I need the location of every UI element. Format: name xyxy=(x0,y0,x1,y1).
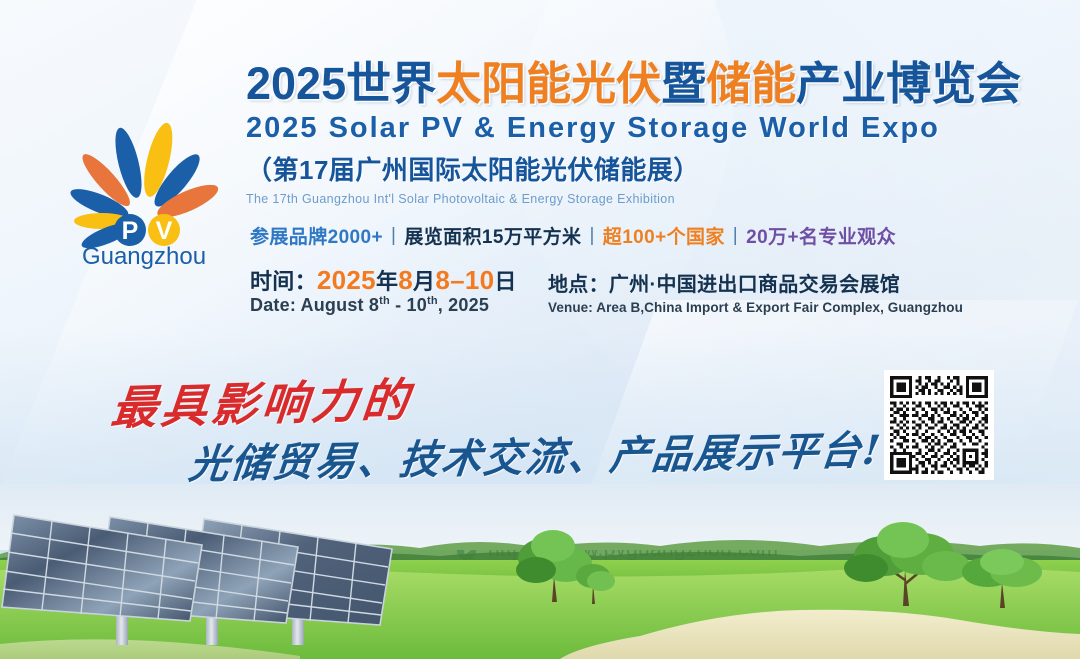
title-chinese-segment-3: 储能 xyxy=(706,58,796,109)
stat-separator-1: | xyxy=(383,225,404,246)
website-text[interactable]: https://www.pvguangzhou.com xyxy=(488,538,778,562)
solar-panel-array xyxy=(0,491,462,651)
date-day-unit: 日 xyxy=(494,269,516,294)
date-year: 2025 xyxy=(317,265,376,295)
date-chinese: 时间：2025年8月8–10日 xyxy=(250,264,517,296)
stat-separator-3: | xyxy=(725,225,746,246)
date-label-cn: 时间： xyxy=(250,269,317,294)
contact-block: https://www.pvguangzhou.com 4006-258-268 xyxy=(456,538,778,604)
venue-chinese: 地点：广州·中国进出口商品交易会展馆 xyxy=(548,268,900,297)
venue-english: Venue: Area B,China Import & Export Fair… xyxy=(548,300,963,315)
title-chinese-segment-4: 产业博览会 xyxy=(796,58,1021,109)
venue-name-cn: 广州·中国进出口商品交易会展馆 xyxy=(609,274,900,296)
title-chinese-segment-2: 暨 xyxy=(661,58,706,109)
subtitle-chinese: （第17届广州国际太阳能光伏储能展） xyxy=(246,150,1046,187)
date-english: Date: August 8th - 10th, 2025 xyxy=(250,295,489,316)
stat-visitors: 20万+名专业观众 xyxy=(746,227,896,248)
phone-row[interactable]: 4006-258-268 xyxy=(456,571,778,595)
title-chinese-segment-1: 太阳能光伏 xyxy=(436,58,661,109)
pv-guangzhou-logo: P V Guangzhou xyxy=(48,96,238,276)
date-en-mid: - 10 xyxy=(390,295,427,315)
expo-poster: P V Guangzhou 2025世界太阳能光伏暨储能产业博览会 2025 S… xyxy=(0,0,1080,659)
qr-code-image[interactable] xyxy=(884,370,994,480)
date-days: 8–10 xyxy=(435,265,494,295)
svg-text:P: P xyxy=(122,217,139,245)
subtitle-english: The 17th Guangzhou Int'l Solar Photovolt… xyxy=(246,192,1046,206)
venue-label-cn: 地点： xyxy=(548,274,609,296)
qr-block: 扫码免费参观 xyxy=(884,370,998,509)
date-year-unit: 年 xyxy=(376,269,398,294)
title-chinese-segment-0: 2025世界 xyxy=(246,58,436,109)
stat-separator-2: | xyxy=(581,225,602,246)
title-chinese: 2025世界太阳能光伏暨储能产业博览会 xyxy=(246,60,1046,108)
logo-pv-mark: P V xyxy=(114,214,180,246)
date-en-tail: , 2025 xyxy=(438,295,489,315)
date-month: 8 xyxy=(398,265,413,295)
slogan-line-1: 最具影响力的 xyxy=(108,364,415,438)
date-en-sup-1: th xyxy=(379,295,390,307)
stat-area: 展览面积15万平方米 xyxy=(404,227,581,248)
stats-row: 参展品牌2000+|展览面积15万平方米|超100+个国家|20万+名专业观众 xyxy=(250,222,896,249)
title-english: 2025 Solar PV & Energy Storage World Exp… xyxy=(246,112,1046,145)
qr-caption: 扫码免费参观 xyxy=(880,489,998,509)
headline-block: 2025世界太阳能光伏暨储能产业博览会 2025 Solar PV & Ener… xyxy=(246,60,1046,206)
date-en-sup-2: th xyxy=(427,295,438,307)
stat-countries: 超100+个国家 xyxy=(603,227,725,248)
logo-graphic: P V Guangzhou xyxy=(48,96,238,276)
date-en-head: Date: August 8 xyxy=(250,295,379,315)
svg-text:V: V xyxy=(156,217,173,245)
logo-wordmark: Guangzhou xyxy=(82,243,206,270)
stat-brands: 参展品牌2000+ xyxy=(250,227,383,248)
date-month-unit: 月 xyxy=(413,269,435,294)
website-row[interactable]: https://www.pvguangzhou.com xyxy=(456,538,778,562)
phone-text[interactable]: 4006-258-268 xyxy=(488,571,621,595)
